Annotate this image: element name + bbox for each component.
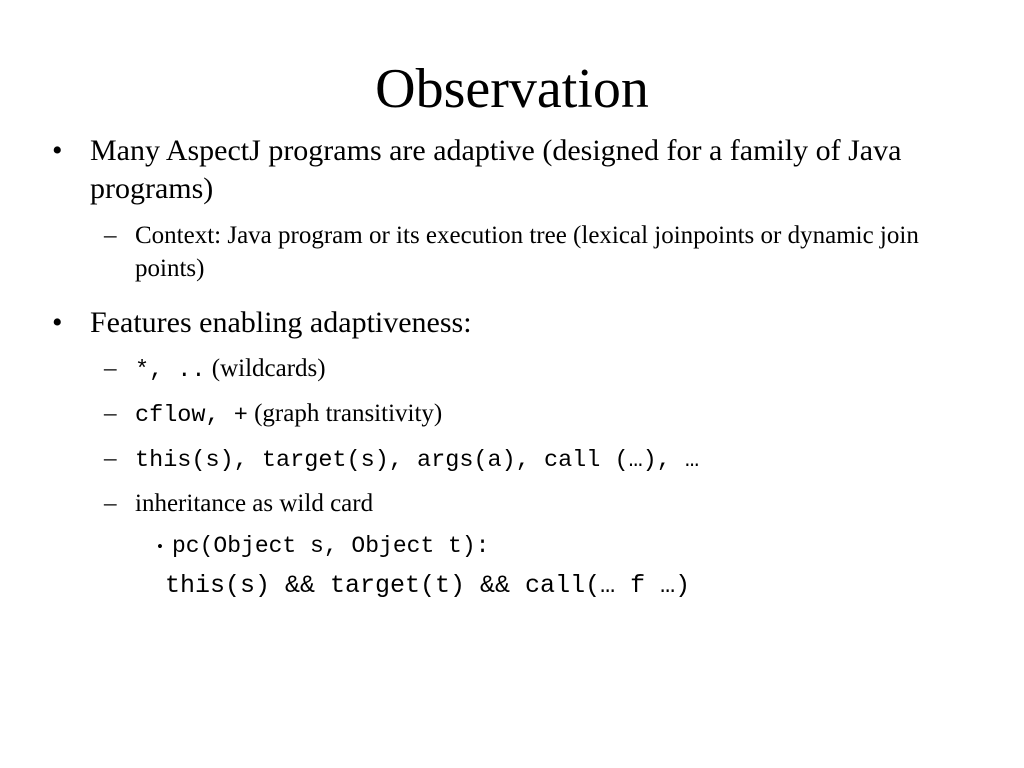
wildcards-code: *, ..: [135, 357, 206, 384]
subbullet-context: – Context: Java program or its execution…: [0, 219, 1024, 285]
code-text: pc(Object s, Object t):: [172, 533, 489, 559]
page-title: Observation: [0, 58, 1024, 120]
subbullet-wildcards: – *, .. (wildcards): [0, 352, 1024, 387]
slide-body: • Many AspectJ programs are adaptive (de…: [0, 132, 1024, 603]
subbullet-inheritance-as-wild-card: – inheritance as wild card: [0, 487, 1024, 520]
dash-icon: –: [104, 442, 117, 475]
bullet-many-aspectj-programs: • Many AspectJ programs are adaptive (de…: [0, 132, 1024, 208]
code-text: this(s) && target(t) && call(… f …): [165, 571, 690, 600]
subbullet-pointcut-designators: – this(s), target(s), args(a), call (…),…: [0, 442, 1024, 477]
bullet-text: Many AspectJ programs are adaptive (desi…: [90, 134, 901, 205]
bullet-dot-icon: •: [52, 132, 63, 170]
wildcards-label: (wildcards): [206, 355, 326, 382]
dash-icon: –: [104, 487, 117, 520]
slide: Observation • Many AspectJ programs are …: [0, 0, 1024, 768]
dash-icon: –: [104, 352, 117, 385]
bullet-dot-icon: •: [157, 531, 163, 562]
dash-icon: –: [104, 219, 117, 252]
bullet-text: Features enabling adaptiveness:: [90, 306, 472, 339]
dash-icon: –: [104, 397, 117, 430]
subbullet-text: inheritance as wild card: [135, 490, 373, 517]
code-pointcut-signature: • pc(Object s, Object t):: [0, 531, 1024, 562]
bullet-dot-icon: •: [52, 304, 63, 342]
code-pointcut-body: this(s) && target(t) && call(… f …): [0, 569, 1024, 603]
pointcut-designators-code: this(s), target(s), args(a), call (…), …: [135, 447, 699, 474]
bullet-features-enabling-adaptiveness: • Features enabling adaptiveness:: [0, 304, 1024, 342]
cflow-label: (graph transitivity): [248, 400, 442, 427]
cflow-code: cflow, +: [135, 402, 248, 429]
subbullet-cflow: – cflow, + (graph transitivity): [0, 397, 1024, 432]
subbullet-text: Context: Java program or its execution t…: [135, 222, 919, 282]
